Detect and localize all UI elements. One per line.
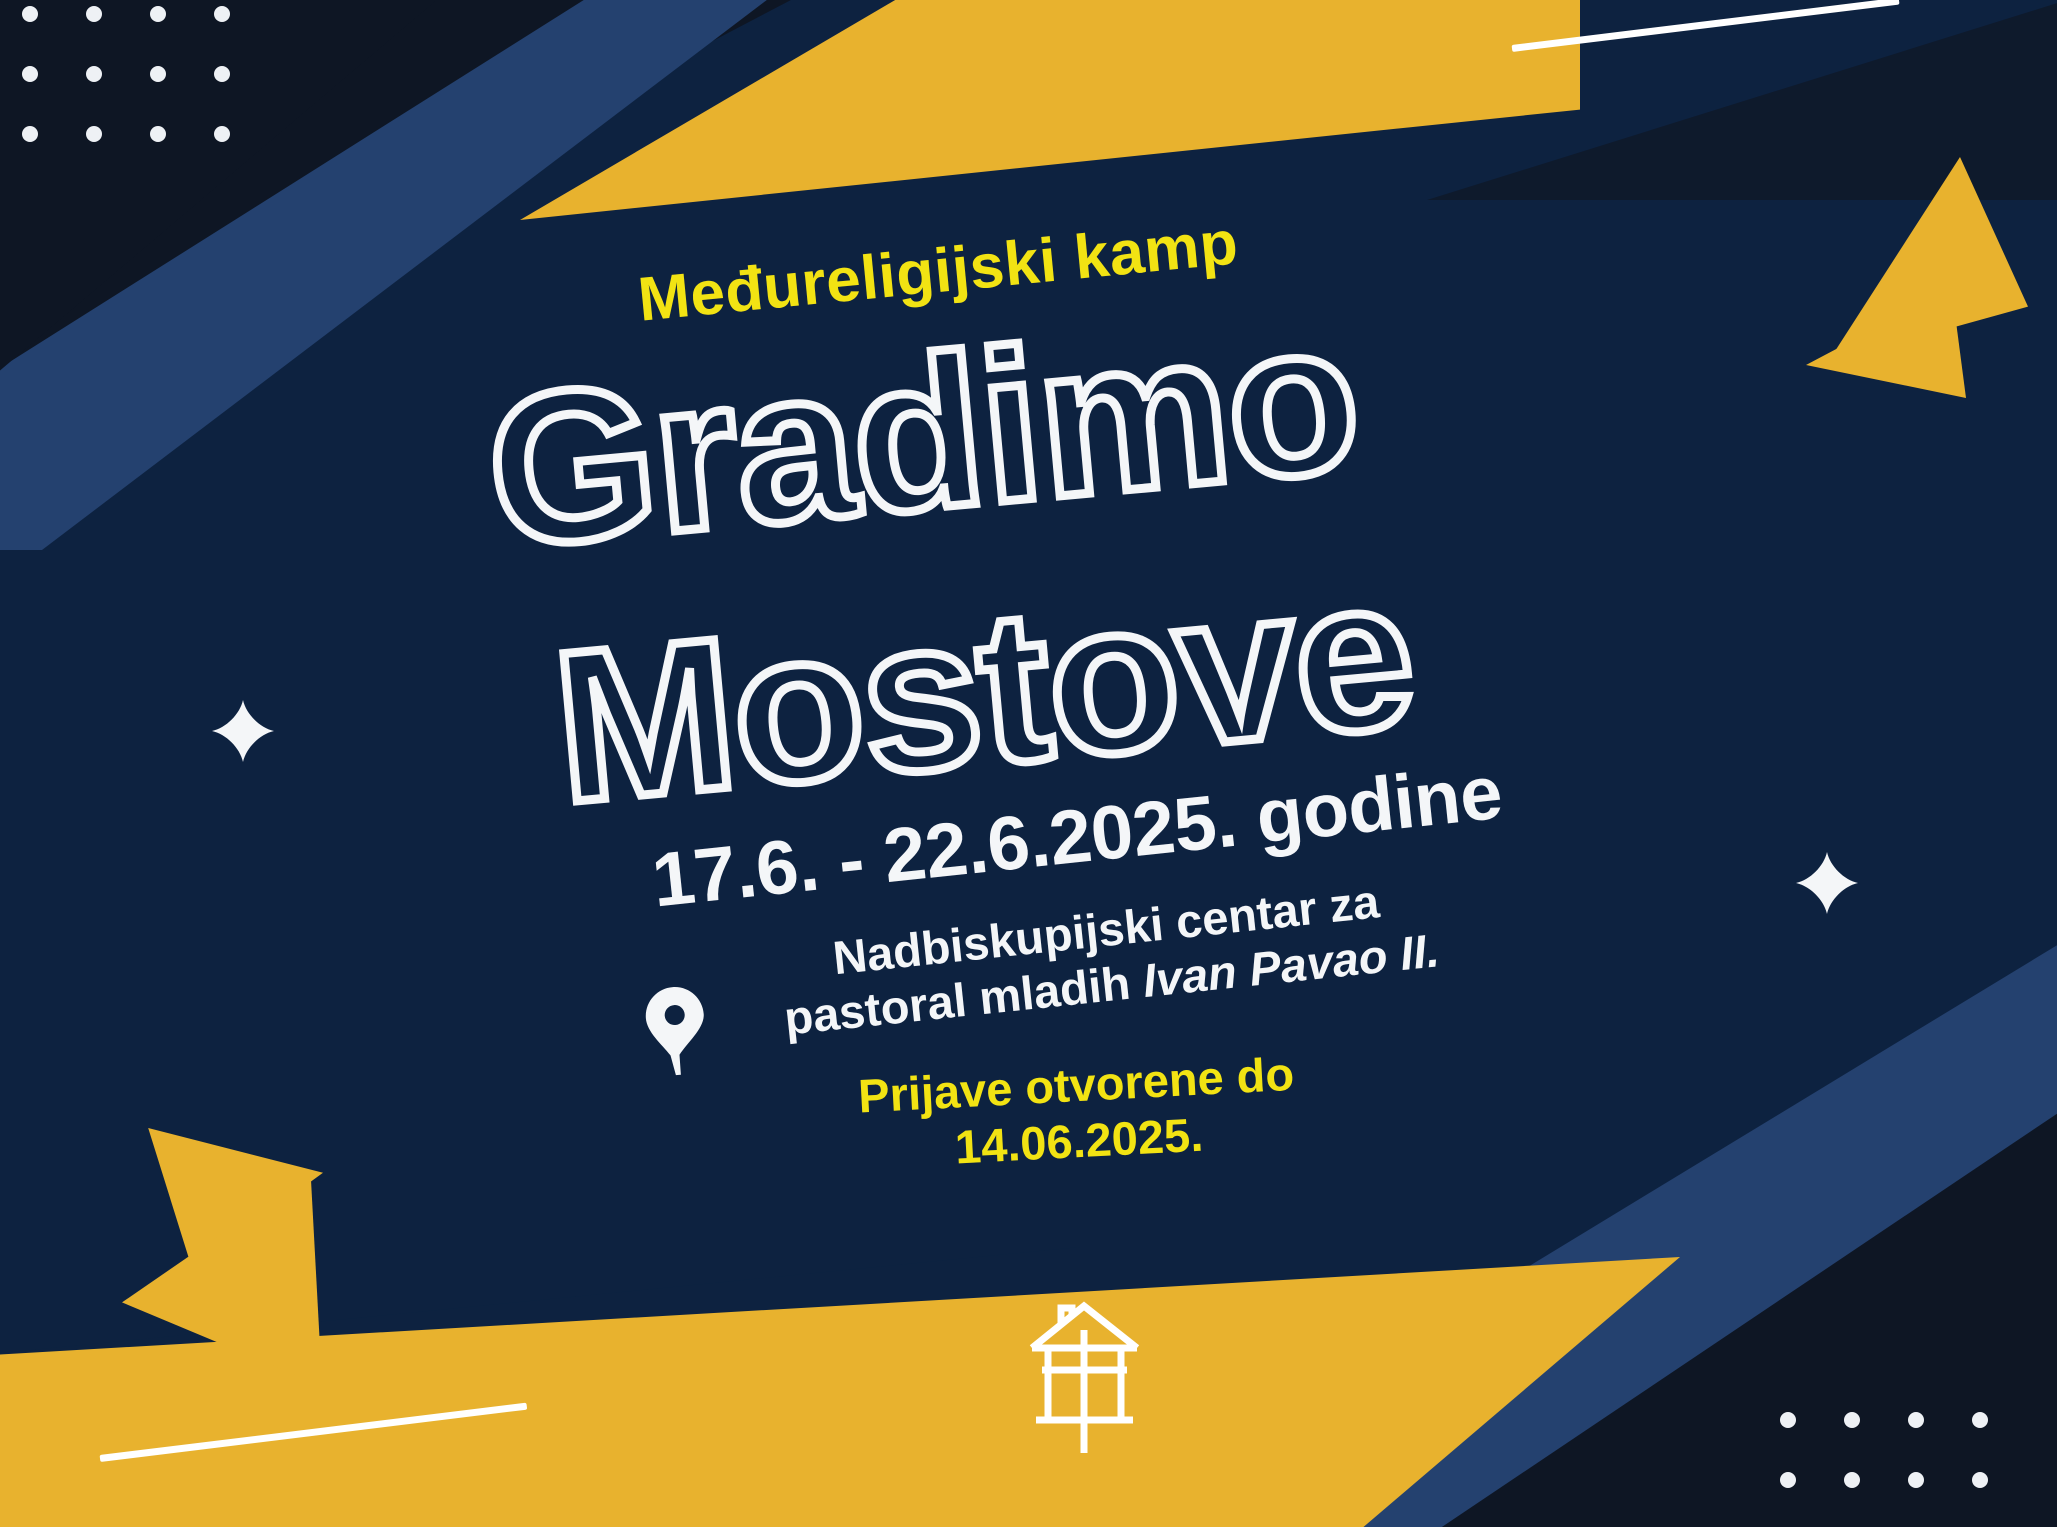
poster-deadline: Prijave otvorene do 14.06.2025. xyxy=(830,1044,1325,1182)
poster-deadline-line-2: 14.06.2025. xyxy=(954,1108,1205,1174)
house-bridge-cross-logo-icon xyxy=(1022,1290,1147,1460)
location-pin-icon xyxy=(642,983,711,1084)
poster-canvas: Međureligijski kamp Gradimo Mostove 17.6… xyxy=(0,0,2057,1527)
poster-deadline-line-1: Prijave otvorene do xyxy=(857,1047,1295,1123)
poster-content: Međureligijski kamp Gradimo Mostove 17.6… xyxy=(0,0,2057,1527)
